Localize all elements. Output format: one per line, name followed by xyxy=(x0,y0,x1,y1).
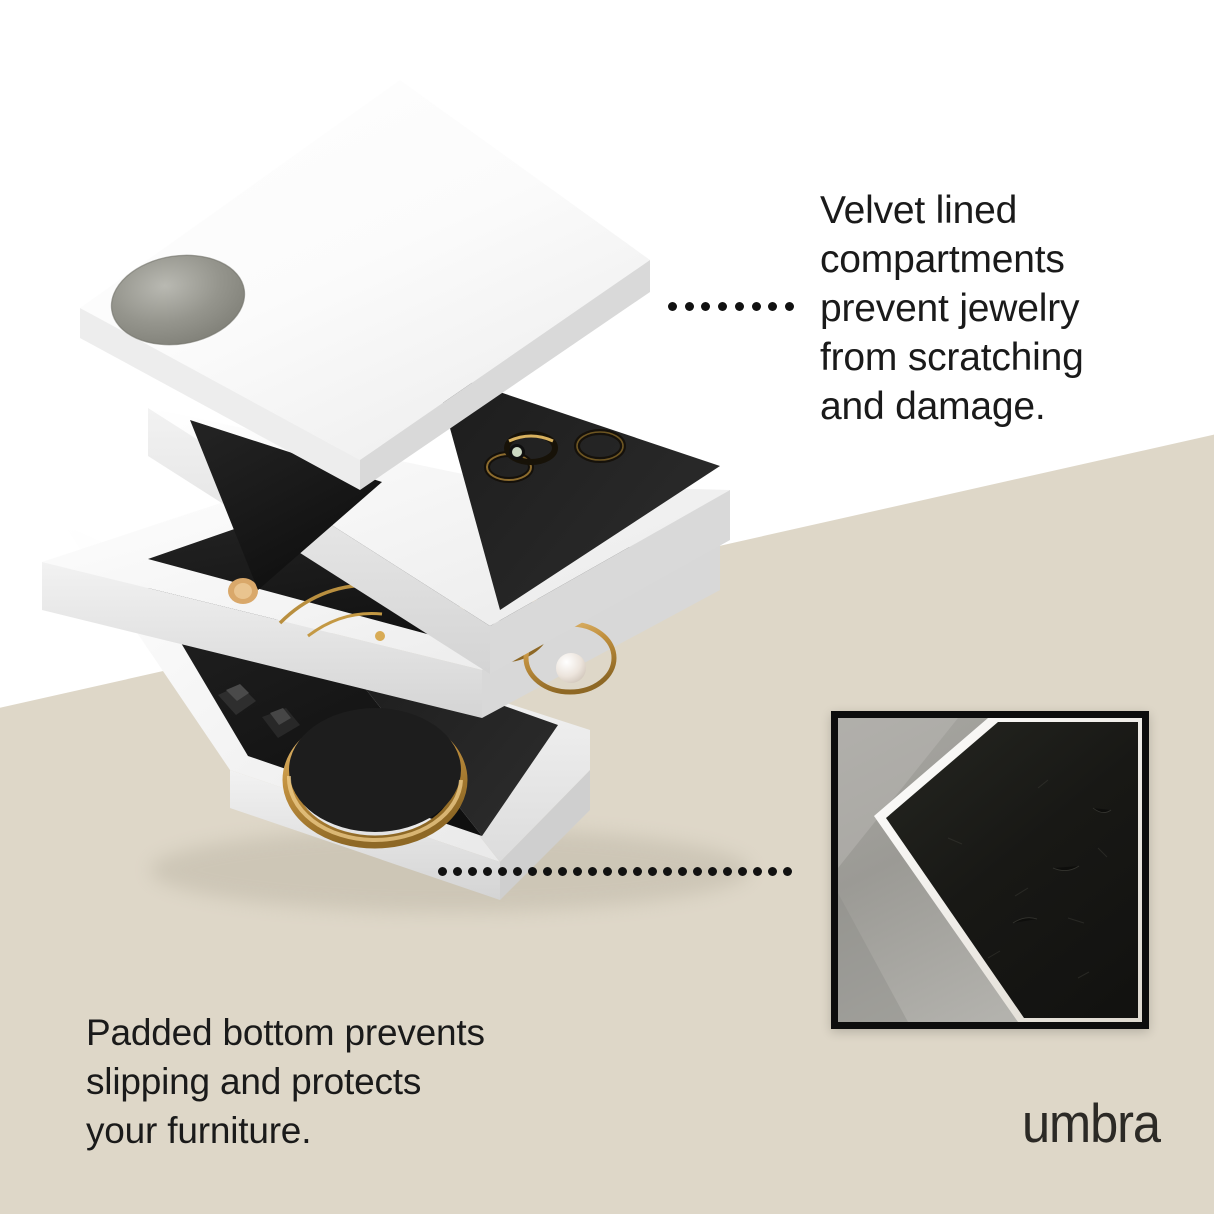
leader-dot xyxy=(738,867,747,876)
leader-dot xyxy=(693,867,702,876)
leader-dot xyxy=(603,867,612,876)
leader-dot xyxy=(438,867,447,876)
leader-dot xyxy=(768,302,777,311)
leader-dot xyxy=(663,867,672,876)
leader-line-velvet xyxy=(668,302,794,311)
product-infographic: Velvet lined compartments prevent jewelr… xyxy=(0,0,1214,1214)
callout-line: and damage. xyxy=(820,382,1200,431)
callout-line: from scratching xyxy=(820,333,1200,382)
brand-logo: umbra xyxy=(1022,1096,1160,1151)
callout-line: Velvet lined xyxy=(820,186,1200,235)
leader-dot xyxy=(768,867,777,876)
leader-dot xyxy=(783,867,792,876)
leader-dot xyxy=(558,867,567,876)
leader-dot xyxy=(648,867,657,876)
callout-line: prevent jewelry xyxy=(820,284,1200,333)
callout-velvet-lined: Velvet lined compartments prevent jewelr… xyxy=(820,186,1200,431)
leader-dot xyxy=(678,867,687,876)
leader-dot xyxy=(633,867,642,876)
leader-dot xyxy=(528,867,537,876)
leader-dot xyxy=(483,867,492,876)
leader-dot xyxy=(513,867,522,876)
callout-padded-bottom: Padded bottom prevents slipping and prot… xyxy=(86,1008,626,1155)
inset-detail-photo-padded-bottom xyxy=(831,711,1149,1029)
leader-dot xyxy=(668,302,677,311)
leader-dot xyxy=(723,867,732,876)
gold-bangle xyxy=(289,708,461,842)
leader-dot xyxy=(752,302,761,311)
leader-dot xyxy=(753,867,762,876)
leader-dot xyxy=(453,867,462,876)
leader-dot xyxy=(708,867,717,876)
leader-line-padded-bottom xyxy=(438,867,792,876)
leader-dot xyxy=(701,302,710,311)
callout-line: your furniture. xyxy=(86,1106,626,1155)
callout-line: compartments xyxy=(820,235,1200,284)
leader-dot xyxy=(588,867,597,876)
leader-dot xyxy=(685,302,694,311)
leader-dot xyxy=(573,867,582,876)
leader-dot xyxy=(785,302,794,311)
leader-dot xyxy=(468,867,477,876)
product-photo xyxy=(30,70,820,940)
leader-dot xyxy=(718,302,727,311)
callout-line: Padded bottom prevents xyxy=(86,1008,626,1057)
leader-dot xyxy=(735,302,744,311)
callout-line: slipping and protects xyxy=(86,1057,626,1106)
leader-dot xyxy=(543,867,552,876)
leader-dot xyxy=(498,867,507,876)
gold-gem-stud xyxy=(228,578,258,604)
leader-dot xyxy=(618,867,627,876)
